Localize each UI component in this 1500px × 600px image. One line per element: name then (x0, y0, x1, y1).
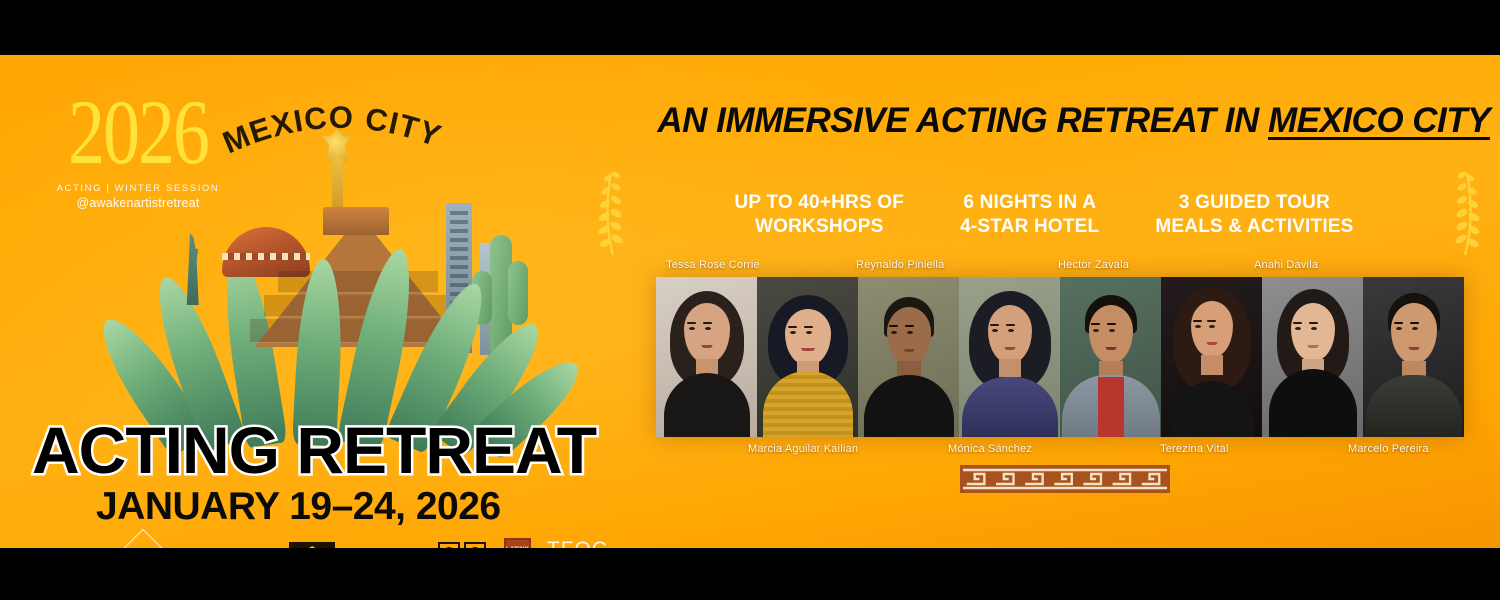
cactus-arm (508, 261, 528, 325)
headline-prefix: AN IMMERSIVE ACTING RETREAT IN (657, 101, 1268, 140)
feature-line-2: MEALS & ACTIVITIES (1155, 215, 1353, 239)
sponsor-logos: PLAYGROUND hechale TEATRO LATINO ♕ Ms. M… (100, 533, 560, 548)
sponsor-aztec-glyph-logo (436, 538, 488, 548)
diamond-shape-icon (115, 529, 172, 548)
sponsor-tfoc-label: TFOC (547, 539, 608, 549)
cast-name: Tessa Rose Corrie (666, 259, 760, 271)
headshot[interactable] (1060, 277, 1161, 437)
page-title: ACTING RETREAT (32, 412, 596, 488)
cast-name: Mónica Sánchez (948, 443, 1032, 455)
cast-name: Marcia Aguilar Kailian (748, 443, 858, 455)
cast-name: Hector Zavala (1058, 259, 1129, 271)
headshot[interactable] (858, 277, 959, 437)
cast-name: Terezina Vital (1160, 443, 1229, 455)
feature-line-2: 4-STAR HOTEL (960, 215, 1099, 239)
feature-line-2: WORKSHOPS (734, 215, 904, 239)
sponsor-latinx-mafia-logo: LATINX MAFIA NEW YORK CITY (504, 538, 531, 548)
feature-line-1: 3 GUIDED TOUR (1155, 191, 1353, 215)
promo-banner: 2026 ACTING | WINTER SESSION @awakenarti… (0, 55, 1500, 548)
sponsor-hechale-logo: hechale TEATRO LATINO (181, 544, 274, 548)
sponsor-playground-logo: PLAYGROUND (100, 535, 165, 548)
sponsor-teatro-logo (289, 542, 335, 548)
pyramid-step (278, 271, 438, 293)
banner-stage: 2026 ACTING | WINTER SESSION @awakenarti… (0, 0, 1500, 600)
headshot[interactable] (656, 277, 757, 437)
sponsor-tfoc-logo: TFOC Theater Folx of Color (547, 539, 608, 549)
cast-name: Reynaldo Piniella (856, 259, 944, 271)
headline-emphasis: MEXICO CITY (1268, 101, 1490, 140)
feature-line-1: UP TO 40+HRS OF (734, 191, 904, 215)
feature-line-1: 6 NIGHTS IN A (960, 191, 1099, 215)
right-panel: AN IMMERSIVE ACTING RETREAT IN MEXICO CI… (648, 55, 1500, 548)
pyramid-step (264, 295, 452, 317)
cast-name: Anahi Davila (1254, 259, 1318, 271)
feature-item: 6 NIGHTS IN A 4-STAR HOTEL (960, 191, 1099, 240)
headshot[interactable] (757, 277, 858, 437)
feature-item: 3 GUIDED TOUR MEALS & ACTIVITIES (1155, 191, 1353, 240)
headline: AN IMMERSIVE ACTING RETREAT IN MEXICO CI… (480, 101, 1490, 141)
feature-item: UP TO 40+HRS OF WORKSHOPS (734, 191, 904, 240)
mexico-city-collage (150, 115, 570, 445)
event-dates: JANUARY 19–24, 2026 (96, 485, 501, 529)
cast-headshot-strip (656, 277, 1464, 437)
theater-building-icon (289, 542, 335, 548)
sponsor-hechale-label: hechale (181, 544, 252, 548)
feature-list: UP TO 40+HRS OF WORKSHOPS 6 NIGHTS IN A … (618, 173, 1470, 257)
headshot[interactable] (1363, 277, 1464, 437)
pyramid-temple (323, 207, 389, 235)
headshot[interactable] (959, 277, 1060, 437)
sponsor-latinx-label-a: LATINX (506, 546, 529, 548)
headshot[interactable] (1262, 277, 1363, 437)
headshot[interactable] (1161, 277, 1262, 437)
cast-name: Marcelo Pereira (1348, 443, 1429, 455)
aztec-meander-border (960, 465, 1170, 493)
